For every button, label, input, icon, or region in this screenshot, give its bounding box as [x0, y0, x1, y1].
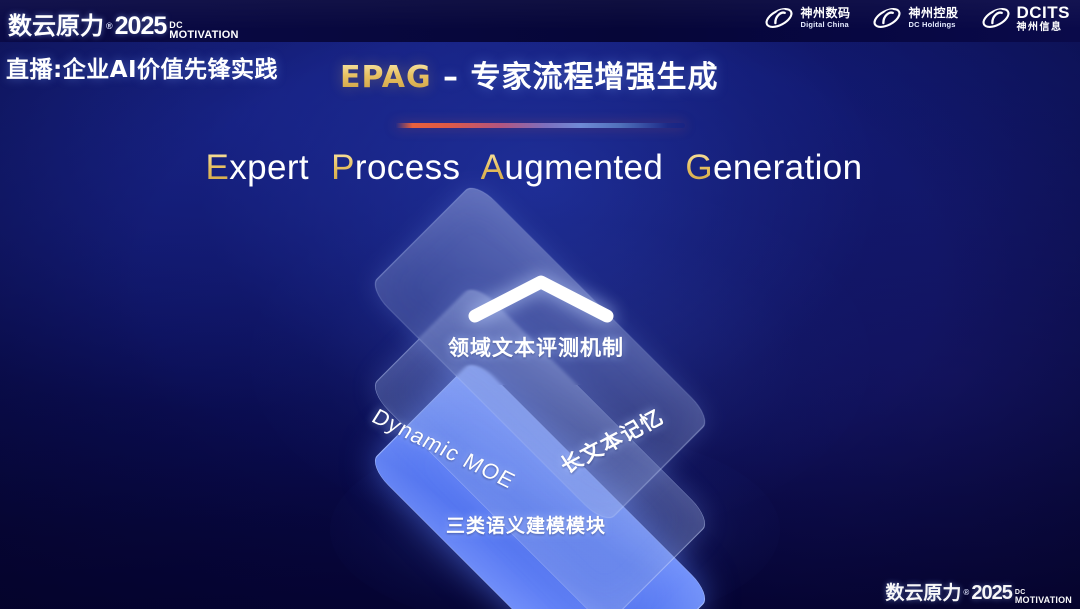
subtitle-initial: G [685, 148, 713, 187]
corporate-logo-group: 神州数码 Digital China 神州控股 DC Holdings [764, 3, 1070, 33]
corporate-logo-text: DCITS 神州信息 [1017, 3, 1071, 33]
corporate-name-cn: 神州控股 [908, 7, 958, 20]
corporate-name-en: Digital China [800, 21, 850, 29]
live-programme-label: 直播:企业AI价值先锋实践 [6, 50, 278, 84]
corporate-logo-dc-holdings: 神州控股 DC Holdings [872, 3, 958, 33]
brand-logo-registered: ® [963, 588, 969, 597]
brand-logo-year: 2025 [115, 12, 167, 41]
brand-logo-motivation: MOTIVATION [169, 30, 238, 41]
subtitle-initial: A [481, 148, 505, 187]
corporate-logo-text: 神州控股 DC Holdings [908, 7, 958, 29]
swirl-icon [872, 3, 902, 33]
corporate-name-cn: 神州数码 [800, 7, 850, 20]
subtitle-rest: xpert [229, 148, 309, 187]
subtitle-rest: ugmented [504, 148, 663, 187]
corporate-logo-text: 神州数码 Digital China [800, 7, 850, 29]
subtitle-word-generation: Generation [685, 148, 862, 187]
page-title-cn: – 专家流程增强生成 [443, 60, 718, 95]
brand-logo-year: 2025 [971, 582, 1012, 605]
page-title: EPAG – 专家流程增强生成 [340, 52, 718, 96]
subtitle-word-augmented: Augmented [481, 148, 664, 187]
corporate-name-cn: 神州信息 [1017, 22, 1071, 33]
gradient-divider [395, 123, 685, 128]
subtitle-word-expert: Expert [205, 148, 309, 187]
brand-logo-cn: 数云原力 [8, 6, 104, 41]
subtitle-word-process: Process [331, 148, 460, 187]
subtitle-expansion: Expert Process Augmented Generation [0, 148, 1080, 188]
page-title-acronym: EPAG [340, 60, 432, 95]
corporate-name-en: DCITS [1017, 3, 1071, 22]
brand-logo-dc-block: DC MOTIVATION [169, 21, 238, 41]
brand-logo-top: 数云原力 ® 2025 DC MOTIVATION [8, 6, 239, 41]
subtitle-initial: E [205, 148, 229, 187]
stack-layer-bottom-label: 三类语义建模模块 [446, 511, 606, 538]
brand-logo-cn: 数云原力 [885, 578, 961, 605]
stack-layer-top-label: 领域文本评测机制 [448, 332, 624, 362]
brand-logo-registered: ® [106, 21, 113, 31]
chevron-up-icon [465, 272, 617, 324]
corporate-logo-digital-china: 神州数码 Digital China [764, 3, 850, 33]
swirl-icon [981, 3, 1011, 33]
corporate-name-en: DC Holdings [908, 21, 958, 29]
subtitle-rest: eneration [713, 148, 863, 187]
corporate-logo-dcits: DCITS 神州信息 [981, 3, 1071, 33]
slide-canvas: 数云原力 ® 2025 DC MOTIVATION 直播:企业AI价值先锋实践 … [0, 0, 1080, 609]
subtitle-rest: rocess [355, 148, 461, 187]
brand-logo-motivation: MOTIVATION [1015, 596, 1072, 605]
swirl-icon [764, 3, 794, 33]
brand-logo-dc-block: DC MOTIVATION [1015, 589, 1072, 605]
brand-logo-watermark: 数云原力 ® 2025 DC MOTIVATION [885, 578, 1072, 605]
subtitle-initial: P [331, 148, 355, 187]
